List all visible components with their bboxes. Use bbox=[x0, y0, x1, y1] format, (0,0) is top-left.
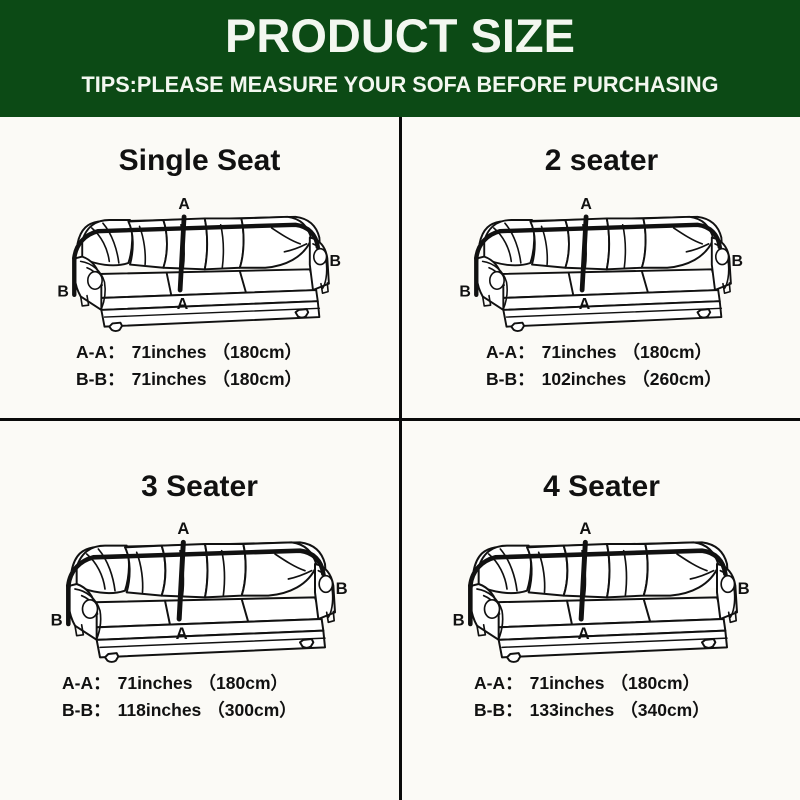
dimension-list: A-A：71inches（180cm） B-B：118inches（300cm） bbox=[0, 670, 399, 724]
dimension-value-inches: 71inches bbox=[542, 342, 617, 362]
dimension-value-cm: （340cm） bbox=[614, 700, 710, 720]
marker-a-bottom: A bbox=[176, 296, 188, 313]
dimension-colon: ： bbox=[107, 369, 132, 389]
dimension-row: A-A：71inches（180cm） bbox=[76, 339, 399, 366]
dimension-list: A-A：71inches（180cm） B-B：102inches（260cm） bbox=[402, 339, 800, 393]
sofa-illustration-wrap: A A B B bbox=[0, 509, 399, 664]
dimension-row: B-B：71inches（180cm） bbox=[76, 366, 399, 393]
dimension-list: A-A：71inches（180cm） B-B：71inches（180cm） bbox=[0, 339, 399, 393]
dimension-value-inches: 71inches bbox=[530, 673, 605, 693]
sofa-diagram-icon: A A B B bbox=[56, 185, 344, 333]
dimension-row: A-A：71inches（180cm） bbox=[486, 339, 800, 366]
marker-b-right: B bbox=[329, 253, 341, 270]
dimension-value-cm: （180cm） bbox=[617, 342, 713, 362]
dimension-value-inches: 71inches bbox=[118, 673, 193, 693]
marker-a-top: A bbox=[177, 519, 189, 538]
header-banner: PRODUCT SIZE TIPS:PLEASE MEASURE YOUR SO… bbox=[0, 0, 800, 117]
dimension-value-cm: （300cm） bbox=[201, 700, 297, 720]
sofa-diagram-icon: A A B B bbox=[452, 509, 752, 664]
dimension-key: A-A bbox=[474, 673, 505, 693]
dimension-value-inches: 71inches bbox=[132, 342, 207, 362]
dimension-key: A-A bbox=[76, 342, 107, 362]
quadrant-title: 3 Seater bbox=[0, 421, 399, 505]
marker-b-left: B bbox=[57, 283, 69, 300]
dimension-value-inches: 118inches bbox=[118, 700, 202, 720]
dimension-value-inches: 133inches bbox=[530, 700, 615, 720]
marker-a-bottom: A bbox=[175, 624, 187, 643]
dimension-key: B-B bbox=[62, 700, 93, 720]
dimension-colon: ： bbox=[505, 700, 530, 720]
marker-b-right: B bbox=[737, 579, 749, 598]
dimension-colon: ： bbox=[107, 342, 132, 362]
dimension-value-cm: （180cm） bbox=[207, 342, 303, 362]
dimension-row: A-A：71inches（180cm） bbox=[62, 670, 399, 697]
quadrant-4-seater: 4 Seater bbox=[402, 421, 800, 800]
dimension-row: B-B：118inches（300cm） bbox=[62, 697, 399, 724]
sofa-illustration-wrap: A A B B bbox=[0, 185, 399, 333]
dimension-value-cm: （180cm） bbox=[207, 369, 303, 389]
sofa-illustration-wrap: A A B B bbox=[402, 509, 800, 664]
quadrant-title: Single Seat bbox=[0, 120, 399, 179]
dimension-colon: ： bbox=[517, 342, 542, 362]
marker-a-bottom: A bbox=[578, 296, 590, 313]
dimension-colon: ： bbox=[93, 673, 118, 693]
page-title: PRODUCT SIZE bbox=[0, 8, 800, 64]
sofa-diagram-icon: A A B B bbox=[458, 185, 746, 333]
sofa-illustration-wrap: A A B B bbox=[402, 185, 800, 333]
marker-b-right: B bbox=[335, 579, 347, 598]
dimension-row: B-B：133inches（340cm） bbox=[474, 697, 800, 724]
dimension-colon: ： bbox=[517, 369, 542, 389]
dimension-value-cm: （180cm） bbox=[193, 673, 289, 693]
marker-b-left: B bbox=[459, 283, 471, 300]
quadrant-3-seater: 3 Seater bbox=[0, 421, 399, 800]
header-subtitle: TIPS:PLEASE MEASURE YOUR SOFA BEFORE PUR… bbox=[6, 71, 794, 99]
dimension-key: B-B bbox=[76, 369, 107, 389]
sofa-diagram-icon: A A B B bbox=[50, 509, 350, 664]
marker-a-top: A bbox=[579, 519, 591, 538]
dimension-list: A-A：71inches（180cm） B-B：133inches（340cm） bbox=[402, 670, 800, 724]
dimension-value-inches: 71inches bbox=[132, 369, 207, 389]
dimension-key: A-A bbox=[62, 673, 93, 693]
dimension-colon: ： bbox=[93, 700, 118, 720]
quadrant-single-seat: Single Seat bbox=[0, 120, 399, 418]
dimension-value-cm: （180cm） bbox=[605, 673, 701, 693]
marker-a-top: A bbox=[580, 196, 592, 213]
dimension-key: B-B bbox=[474, 700, 505, 720]
dimension-row: B-B：102inches（260cm） bbox=[486, 366, 800, 393]
marker-b-left: B bbox=[452, 611, 464, 630]
dimension-row: A-A：71inches（180cm） bbox=[474, 670, 800, 697]
product-size-chart: PRODUCT SIZE TIPS:PLEASE MEASURE YOUR SO… bbox=[0, 0, 800, 800]
quadrant-title: 4 Seater bbox=[402, 421, 800, 505]
marker-a-top: A bbox=[178, 196, 190, 213]
dimension-key: B-B bbox=[486, 369, 517, 389]
marker-b-right: B bbox=[731, 253, 743, 270]
marker-a-bottom: A bbox=[577, 624, 589, 643]
dimension-value-inches: 102inches bbox=[542, 369, 627, 389]
marker-b-left: B bbox=[50, 611, 62, 630]
dimension-key: A-A bbox=[486, 342, 517, 362]
dimension-colon: ： bbox=[505, 673, 530, 693]
dimension-value-cm: （260cm） bbox=[626, 369, 722, 389]
quadrant-title: 2 seater bbox=[402, 120, 800, 179]
quadrant-2-seater: 2 seater bbox=[402, 120, 800, 418]
